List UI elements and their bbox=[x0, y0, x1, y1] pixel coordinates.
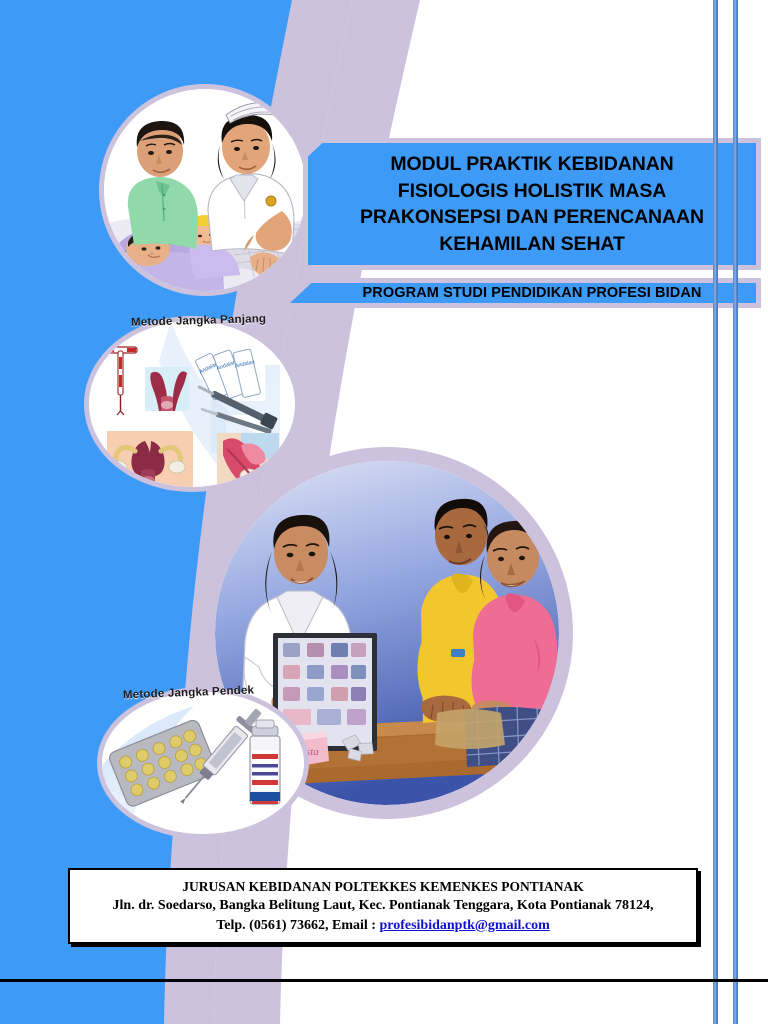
page-title-line-4: KEHAMILAN SEHAT bbox=[312, 231, 752, 258]
footer-phone-label: Telp. (0561) 73662, Email : bbox=[216, 918, 379, 933]
illustration-long-term: Andalan Andalan Andalan bbox=[89, 321, 295, 487]
illustration-short-term bbox=[102, 692, 304, 834]
illustration-postnatal bbox=[104, 89, 306, 291]
vertical-rule-right bbox=[733, 0, 738, 1024]
footer-institution: JURUSAN KEBIDANAN POLTEKKES KEMENKES PON… bbox=[70, 877, 696, 897]
cover-page: Andalan Andalan Andalan bbox=[0, 0, 768, 1024]
photo-inner-mid: Andalan Andalan Andalan bbox=[89, 321, 295, 487]
photo-midwife-postnatal-care bbox=[104, 89, 306, 291]
photo-long-term-contraception: Andalan Andalan Andalan bbox=[89, 321, 295, 487]
footer-street-address: Jln. dr. Soedarso, Bangka Belitung Laut,… bbox=[70, 896, 696, 916]
vertical-rule-left bbox=[713, 0, 718, 1024]
title-main-panel: MODUL PRAKTIK KEBIDANANFISIOLOGIS HOLIST… bbox=[308, 143, 756, 265]
title-subtitle-block: PROGRAM STUDI PENDIDIKAN PROFESI BIDAN bbox=[285, 278, 761, 308]
photo-short-term-contraception bbox=[102, 692, 304, 834]
page-subtitle: PROGRAM STUDI PENDIDIKAN PROFESI BIDAN bbox=[345, 285, 702, 301]
photo-inner-top bbox=[104, 89, 306, 291]
title-subtitle-panel: PROGRAM STUDI PENDIDIKAN PROFESI BIDAN bbox=[290, 283, 756, 303]
page-title: MODUL PRAKTIK KEBIDANANFISIOLOGIS HOLIST… bbox=[308, 151, 756, 257]
page-title-line-1: MODUL PRAKTIK KEBIDANAN bbox=[312, 151, 752, 178]
photo-inner-low bbox=[102, 692, 304, 834]
title-main-block: MODUL PRAKTIK KEBIDANANFISIOLOGIS HOLIST… bbox=[303, 138, 761, 270]
footer-email-link[interactable]: profesibidanptk@gmail.com bbox=[379, 918, 549, 933]
horizontal-rule-bottom bbox=[0, 979, 768, 982]
footer-address-box: JURUSAN KEBIDANAN POLTEKKES KEMENKES PON… bbox=[68, 868, 698, 944]
page-title-line-2: FISIOLOGIS HOLISTIK MASA bbox=[312, 178, 752, 205]
page-title-line-3: PRAKONSEPSI DAN PERENCANAAN bbox=[312, 204, 752, 231]
footer-address-text: JURUSAN KEBIDANAN POLTEKKES KEMENKES PON… bbox=[70, 877, 696, 936]
injectable-vial bbox=[250, 720, 280, 804]
footer-contact: Telp. (0561) 73662, Email : profesibidan… bbox=[70, 916, 696, 936]
uterus-diagram-top bbox=[145, 367, 189, 411]
